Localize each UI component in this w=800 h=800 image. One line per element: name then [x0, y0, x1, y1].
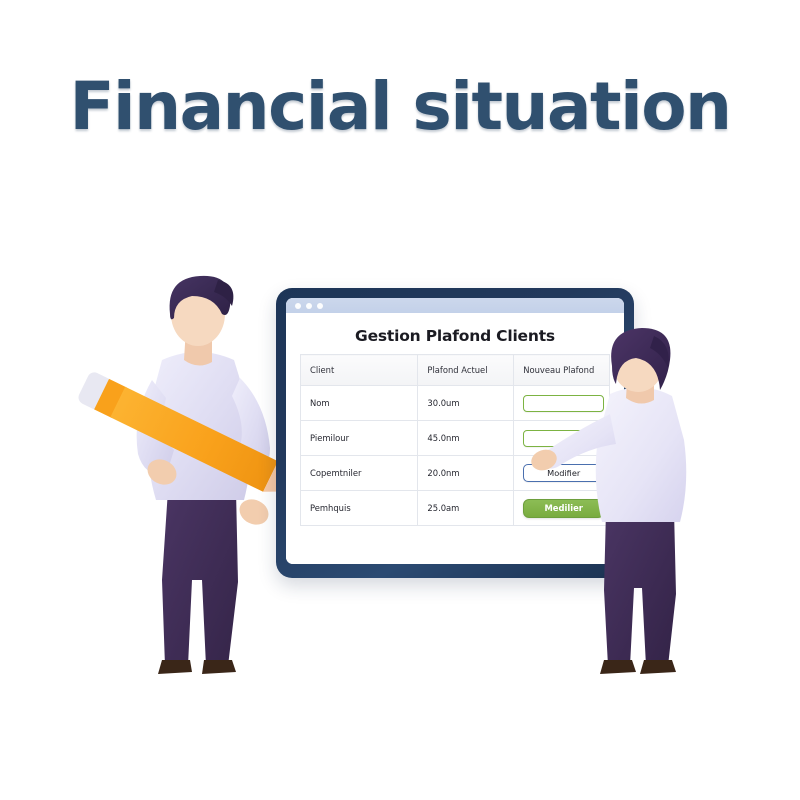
window-dot-icon[interactable] [295, 303, 301, 309]
person-pointing-at-screen [588, 332, 718, 680]
right-person-shoes [600, 660, 676, 674]
left-person-legs [162, 490, 238, 666]
window-dot-icon[interactable] [317, 303, 323, 309]
table-header-row: Client Plafond Actuel Nouveau Plafond [301, 355, 610, 386]
page-title: Financial situation [0, 68, 800, 145]
cell-client: Pemhquis [301, 491, 418, 526]
table-row: Pemhquis 25.0am Medilier [301, 491, 610, 526]
monitor-screen: Gestion Plafond Clients Client Plafond A… [286, 298, 624, 564]
column-header-client: Client [301, 355, 418, 386]
column-header-plafond-actuel: Plafond Actuel [418, 355, 514, 386]
app-title: Gestion Plafond Clients [300, 327, 610, 345]
right-person-legs [604, 510, 676, 666]
cell-plafond-actuel: 20.0nm [418, 456, 514, 491]
left-person-head [170, 276, 234, 366]
cell-plafond-actuel: 45.0nm [418, 421, 514, 456]
window-titlebar [286, 298, 624, 313]
table-row: Nom 30.0um [301, 386, 610, 421]
left-person-shoes [158, 660, 236, 674]
cell-client: Nom [301, 386, 418, 421]
cell-plafond-actuel: 30.0um [418, 386, 514, 421]
cell-client: Piemilour [301, 421, 418, 456]
cell-client: Copemtniler [301, 456, 418, 491]
poster-canvas: Financial situation [0, 0, 800, 800]
window-dot-icon[interactable] [306, 303, 312, 309]
cell-plafond-actuel: 25.0am [418, 491, 514, 526]
